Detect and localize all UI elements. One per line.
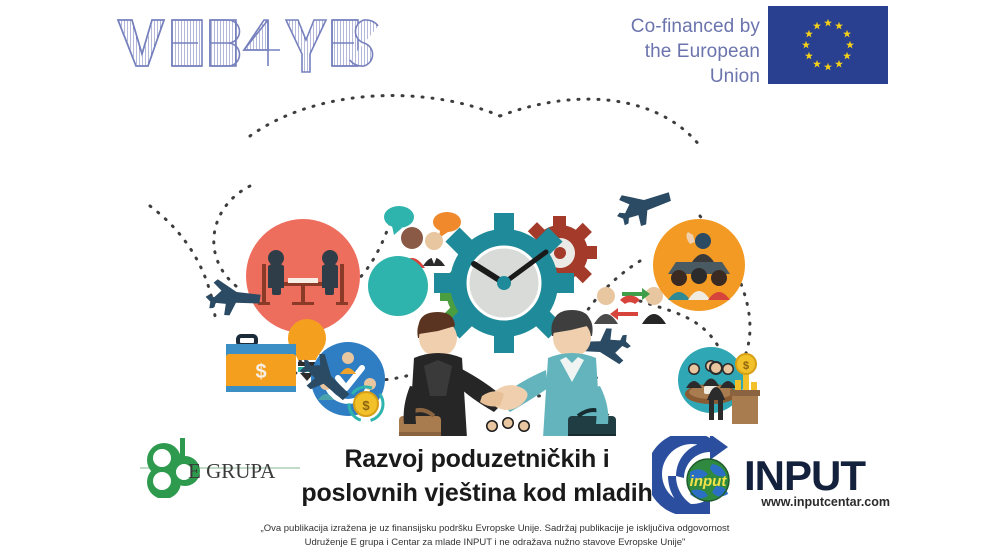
eu-funding-line1: Co-financed by — [631, 16, 760, 37]
disclaimer-line2: Udruženje E grupa i Centar za mlade INPU… — [0, 536, 990, 550]
teal-dot-icon — [368, 256, 428, 316]
meeting-table-circle-icon — [246, 219, 360, 333]
poster-canvas: Co-financed by the European Union — [0, 0, 990, 556]
svg-text:$: $ — [743, 360, 749, 372]
disclaimer-line1: „Ova publikacija izražena je uz finansij… — [0, 522, 990, 536]
poster-header: Co-financed by the European Union — [0, 0, 990, 92]
title-line2: poslovnih vještina kod mladih — [301, 479, 652, 507]
input-logo: input INPUT www.inputcentar.com — [652, 436, 892, 514]
eu-funding-text: Co-financed by the European Union — [595, 14, 760, 89]
svg-text:$: $ — [255, 361, 266, 383]
input-globe-label: input — [690, 473, 728, 490]
egrupa-logo: E GRUPA — [140, 436, 300, 498]
input-label: INPUT — [744, 452, 866, 499]
european-union-flag — [768, 6, 888, 84]
disclaimer-text: „Ova publikacija izražena je uz finansij… — [0, 522, 990, 550]
eu-funding-line2: the European Union — [645, 41, 760, 87]
presenter-circle-icon — [653, 219, 745, 311]
poster-footer: E GRUPA Razvoj poduzetničkih i poslovnih… — [0, 428, 990, 556]
page-title: Razvoj poduzetničkih i poslovnih vještin… — [282, 442, 672, 510]
egrupa-label: E GRUPA — [188, 459, 276, 483]
web4yes-logo — [112, 10, 382, 76]
phone-exchange-icon — [594, 287, 666, 324]
svg-text:$: $ — [362, 398, 370, 413]
title-line1: Razvoj poduzetničkih i — [344, 445, 609, 473]
business-illustration: $ $ — [0, 86, 990, 436]
money-briefcase-icon: $ — [226, 336, 296, 392]
input-website: www.inputcentar.com — [760, 495, 890, 509]
